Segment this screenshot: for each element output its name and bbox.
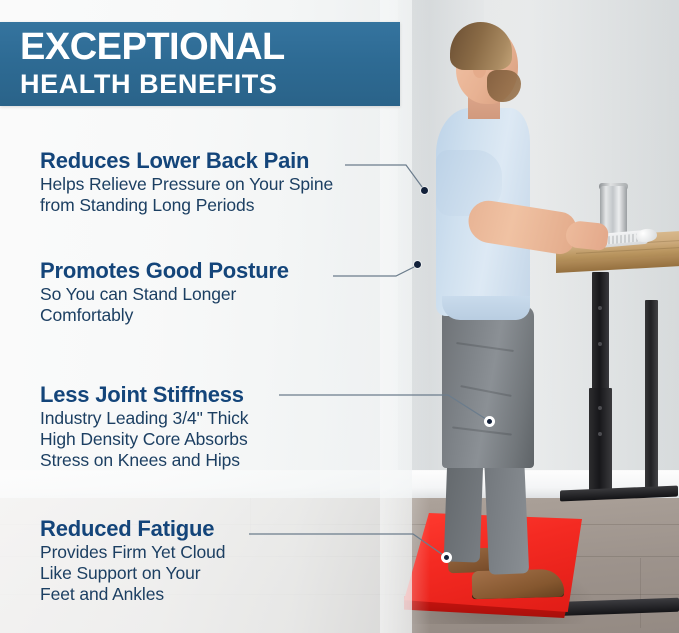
benefit-block-3: Less Joint Stiffness Industry Leading 3/…	[40, 382, 248, 471]
callout-dot-posture	[414, 261, 421, 268]
benefit-line-1-1: Helps Relieve Pressure on Your Spine	[40, 174, 333, 195]
hair	[450, 22, 512, 70]
callout-dot-knee	[484, 416, 495, 427]
benefit-title-2: Promotes Good Posture	[40, 258, 289, 284]
benefit-line-2-1: So You can Stand Longer	[40, 284, 289, 305]
callout-dot-lower-back	[421, 187, 428, 194]
banner-title-line1: EXCEPTIONAL	[20, 26, 400, 68]
header-banner: EXCEPTIONAL HEALTH BENEFITS	[0, 22, 400, 106]
benefit-block-4: Reduced Fatigue Provides Firm Yet Cloud …	[40, 516, 225, 605]
callout-dot-mat	[441, 552, 452, 563]
benefit-block-1: Reduces Lower Back Pain Helps Relieve Pr…	[40, 148, 333, 216]
benefit-line-4-2: Like Support on Your	[40, 563, 225, 584]
benefit-line-3-3: Stress on Knees and Hips	[40, 450, 248, 471]
benefit-title-1: Reduces Lower Back Pain	[40, 148, 333, 174]
benefit-title-3: Less Joint Stiffness	[40, 382, 248, 408]
benefit-line-3-2: High Density Core Absorbs	[40, 429, 248, 450]
benefit-title-4: Reduced Fatigue	[40, 516, 225, 542]
beard	[487, 70, 521, 102]
trousers	[442, 306, 534, 468]
shirt-hem	[442, 296, 530, 320]
benefit-line-4-1: Provides Firm Yet Cloud	[40, 542, 225, 563]
benefit-line-3-1: Industry Leading 3/4" Thick	[40, 408, 248, 429]
benefit-line-2-2: Comfortably	[40, 305, 289, 326]
hand	[565, 220, 610, 251]
benefit-line-1-2: from Standing Long Periods	[40, 195, 333, 216]
infographic-root: EXCEPTIONAL HEALTH BENEFITS Reduces Lowe…	[0, 0, 679, 633]
benefit-block-2: Promotes Good Posture So You can Stand L…	[40, 258, 289, 326]
banner-title-line2: HEALTH BENEFITS	[20, 68, 400, 100]
benefit-line-4-3: Feet and Ankles	[40, 584, 225, 605]
